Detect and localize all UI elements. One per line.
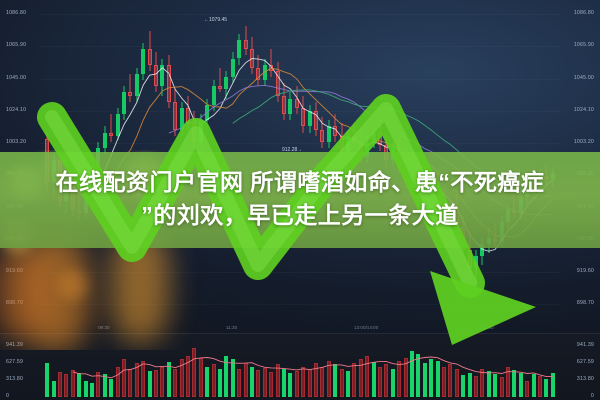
volume-ma-polyline xyxy=(73,357,553,378)
headline-line-2: ”的刘欢，早已走上另一条大道 xyxy=(8,199,592,232)
high-marker-annotation: ←1079.45 xyxy=(204,18,227,23)
article-headline: 在线配资门户官网 所谓嗜酒如命、患“不死癌症 ”的刘欢，早已走上另一条大道 xyxy=(0,166,600,231)
headline-line-1: 在线配资门户官网 所谓嗜酒如命、患“不死癌症 xyxy=(56,169,545,195)
stock-chart-article-banner: 1086.801065.901045.001024.101003.20982.3… xyxy=(0,0,600,400)
